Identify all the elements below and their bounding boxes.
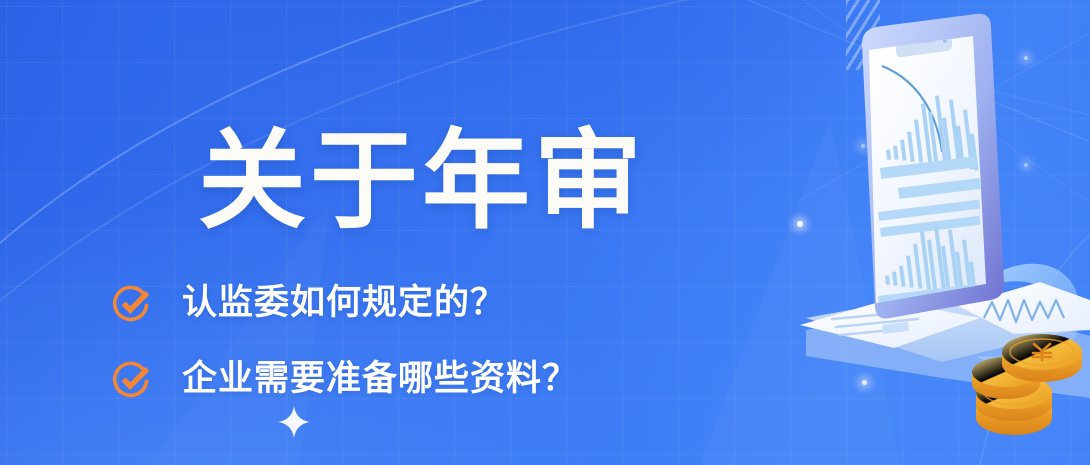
list-item: 认监委如何规定的？	[112, 274, 578, 332]
smartphone	[862, 14, 1004, 323]
bullet-list: 认监委如何规定的？ 企业需要准备哪些资料？	[112, 274, 578, 408]
banner-content: 关于年审 认监委如何规定的？ 企业需要准备哪些资料？	[0, 0, 760, 465]
banner-headline: 关于年审	[198, 122, 646, 240]
list-item-label: 企业需要准备哪些资料？	[182, 359, 578, 399]
list-item: 企业需要准备哪些资料？	[112, 350, 578, 408]
list-item-label: 认监委如何规定的？	[182, 283, 506, 323]
promo-banner: 关于年审 认监委如何规定的？ 企业需要准备哪些资料？	[0, 0, 1090, 465]
phone-finance-illustration	[790, 0, 1090, 465]
circle-check-icon	[112, 283, 152, 323]
circle-check-icon	[112, 359, 152, 399]
